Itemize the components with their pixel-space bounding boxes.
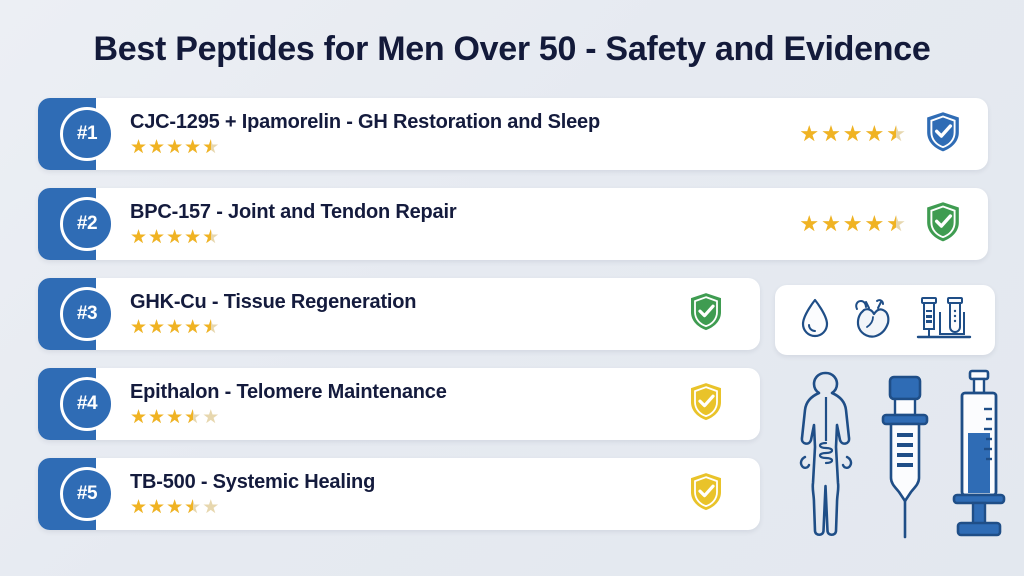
row-right-cluster xyxy=(688,381,724,426)
rating-row: ★★★★★★★★★★ xyxy=(130,498,688,518)
star: ★★ xyxy=(166,138,183,157)
star: ★★ xyxy=(843,213,863,235)
star: ★★ xyxy=(130,318,147,337)
rating-row: ★★★★★★★★★★ xyxy=(130,138,799,158)
star: ★★ xyxy=(148,498,165,517)
heart-anatomy-icon xyxy=(847,295,899,346)
star: ★★ xyxy=(799,213,819,235)
star: ★★ xyxy=(886,123,906,145)
syringe-filled-icon xyxy=(948,367,1010,548)
star: ★★ xyxy=(184,408,201,427)
shield-check-yellow xyxy=(688,381,724,426)
star: ★★ xyxy=(148,318,165,337)
related-icons-card xyxy=(775,285,995,355)
star: ★★ xyxy=(799,123,819,145)
peptide-name: GHK-Cu - Tissue Regeneration xyxy=(130,291,688,314)
ranking-row[interactable]: #4Epithalon - Telomere Maintenance★★★★★★… xyxy=(38,368,760,440)
star-rating: ★★★★★★★★★★ xyxy=(130,228,220,247)
shield-check-blue xyxy=(924,110,962,158)
row-content: BPC-157 - Joint and Tendon Repair★★★★★★★… xyxy=(130,201,799,248)
star: ★★ xyxy=(184,498,201,517)
star: ★★ xyxy=(202,318,219,337)
star: ★★ xyxy=(202,408,219,427)
rating-row: ★★★★★★★★★★ xyxy=(130,408,688,428)
row-right-cluster: ★★★★★★★★★★ xyxy=(799,110,962,158)
row-right-cluster xyxy=(688,291,724,336)
star-rating: ★★★★★★★★★★ xyxy=(130,138,220,157)
syringe-outline-icon xyxy=(877,371,933,548)
syringe-test-tube-icon xyxy=(912,294,974,347)
star: ★★ xyxy=(865,123,885,145)
page-title: Best Peptides for Men Over 50 - Safety a… xyxy=(0,30,1024,69)
star-rating: ★★★★★★★★★★ xyxy=(130,498,220,517)
ranking-row[interactable]: #2BPC-157 - Joint and Tendon Repair★★★★★… xyxy=(38,188,988,260)
star: ★★ xyxy=(130,498,147,517)
star-rating: ★★★★★★★★★★ xyxy=(130,408,220,427)
ranking-row[interactable]: #1CJC-1295 + Ipamorelin - GH Restoration… xyxy=(38,98,988,170)
star: ★★ xyxy=(166,498,183,517)
medical-illustration xyxy=(790,368,1010,548)
shield-check-green xyxy=(924,200,962,248)
star: ★★ xyxy=(184,318,201,337)
star: ★★ xyxy=(166,318,183,337)
peptide-name: TB-500 - Systemic Healing xyxy=(130,471,688,494)
star: ★★ xyxy=(202,498,219,517)
star: ★★ xyxy=(130,408,147,427)
star: ★★ xyxy=(130,138,147,157)
row-content: Epithalon - Telomere Maintenance★★★★★★★★… xyxy=(130,381,688,428)
star-rating: ★★★★★★★★★★ xyxy=(799,213,908,235)
row-content: GHK-Cu - Tissue Regeneration★★★★★★★★★★ xyxy=(130,291,688,338)
star: ★★ xyxy=(148,138,165,157)
rating-row: ★★★★★★★★★★ xyxy=(130,228,799,248)
star: ★★ xyxy=(184,138,201,157)
row-content: CJC-1295 + Ipamorelin - GH Restoration a… xyxy=(130,111,799,158)
shield-check-green xyxy=(688,291,724,336)
star: ★★ xyxy=(865,213,885,235)
row-right-cluster xyxy=(688,471,724,516)
star: ★★ xyxy=(148,408,165,427)
rank-badge: #5 xyxy=(60,467,114,521)
peptide-name: CJC-1295 + Ipamorelin - GH Restoration a… xyxy=(130,111,799,134)
star: ★★ xyxy=(821,123,841,145)
star-rating: ★★★★★★★★★★ xyxy=(799,123,908,145)
star: ★★ xyxy=(843,123,863,145)
row-content: TB-500 - Systemic Healing★★★★★★★★★★ xyxy=(130,471,688,518)
star: ★★ xyxy=(184,228,201,247)
rank-badge: #2 xyxy=(60,197,114,251)
star-rating: ★★★★★★★★★★ xyxy=(130,318,220,337)
human-body-icon xyxy=(790,367,862,548)
peptide-name: Epithalon - Telomere Maintenance xyxy=(130,381,688,404)
star: ★★ xyxy=(166,408,183,427)
row-right-cluster: ★★★★★★★★★★ xyxy=(799,200,962,248)
rank-badge: #1 xyxy=(60,107,114,161)
ranking-row[interactable]: #3GHK-Cu - Tissue Regeneration★★★★★★★★★★ xyxy=(38,278,760,350)
star: ★★ xyxy=(202,228,219,247)
star: ★★ xyxy=(148,228,165,247)
star: ★★ xyxy=(166,228,183,247)
droplet-icon xyxy=(796,296,834,345)
ranking-row[interactable]: #5TB-500 - Systemic Healing★★★★★★★★★★ xyxy=(38,458,760,530)
star: ★★ xyxy=(821,213,841,235)
star: ★★ xyxy=(202,138,219,157)
shield-check-yellow xyxy=(688,471,724,516)
rank-badge: #3 xyxy=(60,287,114,341)
peptide-name: BPC-157 - Joint and Tendon Repair xyxy=(130,201,799,224)
rating-row: ★★★★★★★★★★ xyxy=(130,318,688,338)
star: ★★ xyxy=(130,228,147,247)
rank-badge: #4 xyxy=(60,377,114,431)
star: ★★ xyxy=(886,213,906,235)
